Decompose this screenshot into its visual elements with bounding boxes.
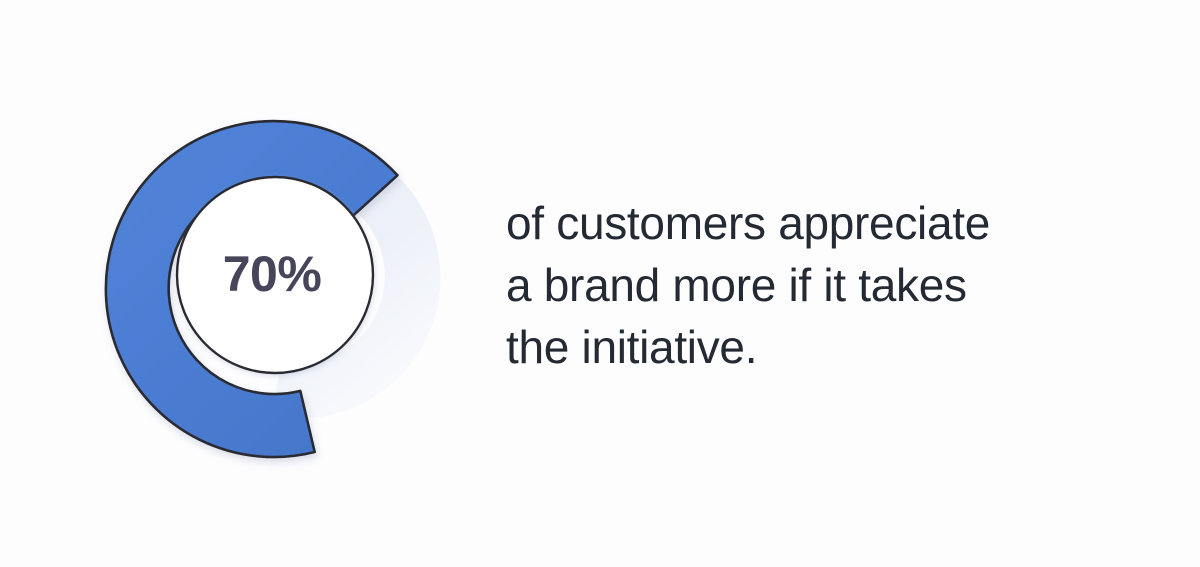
infographic-canvas: 70% of customers appreciate a brand more… <box>0 0 1200 567</box>
statement-text-block: of customers appreciate a brand more if … <box>506 192 1106 378</box>
donut-hub <box>177 177 373 373</box>
statement-line-2: a brand more if it takes <box>506 254 1106 316</box>
donut-chart-svg <box>60 60 490 490</box>
statement-line-3: the initiative. <box>506 316 1106 378</box>
donut-chart <box>60 60 490 490</box>
statement-line-1: of customers appreciate <box>506 192 1106 254</box>
